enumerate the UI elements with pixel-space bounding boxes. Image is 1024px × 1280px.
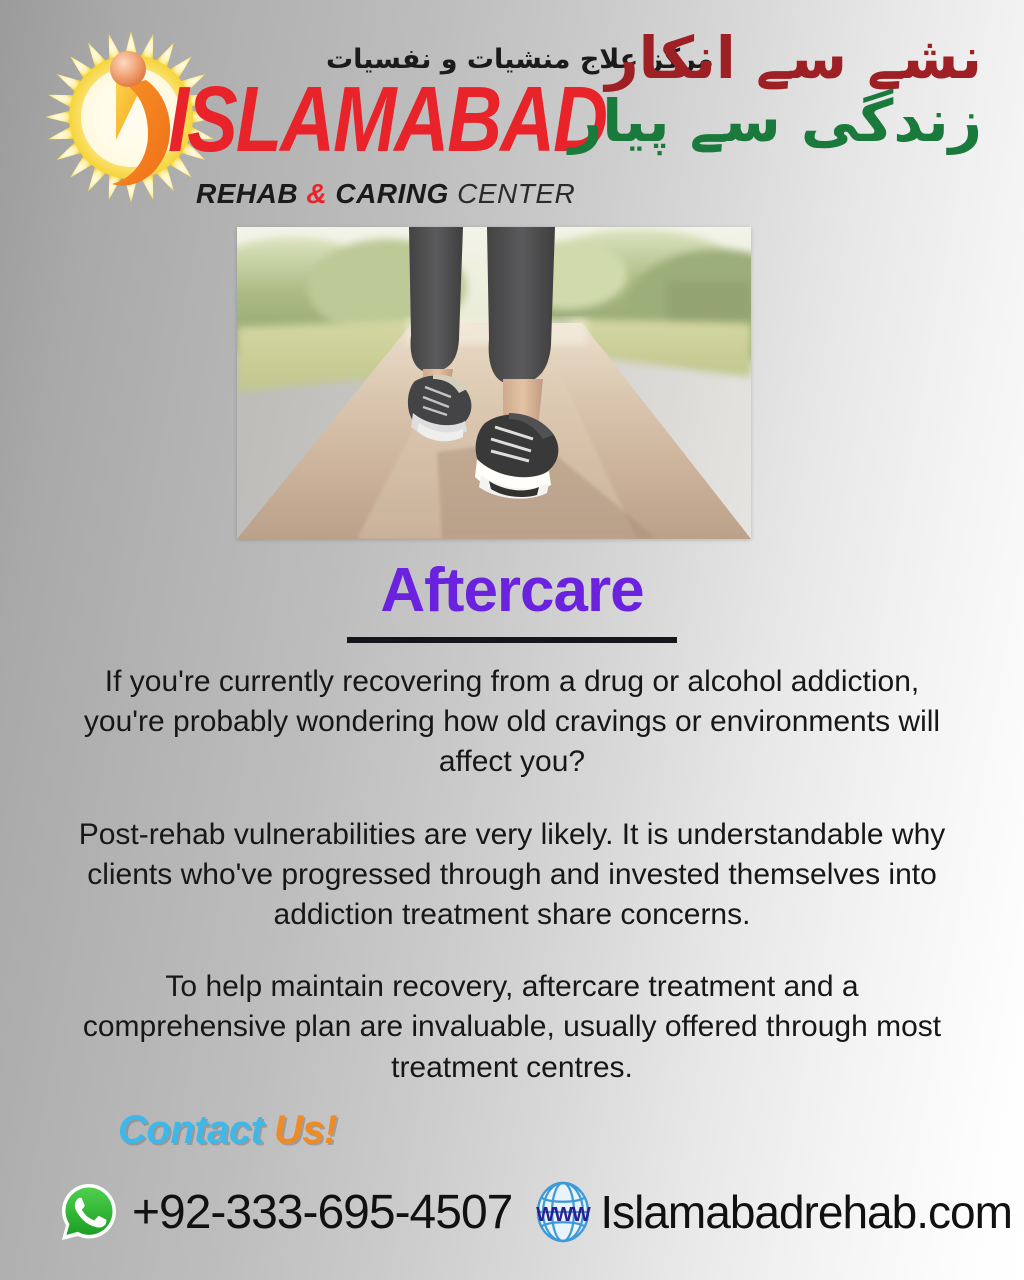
page-title: Aftercare [0,558,1024,623]
logo-sub-ampersand: & [306,178,327,209]
logo-subtitle: REHAB & CARING CENTER [196,180,575,208]
body-copy: If you're currently recovering from a dr… [62,662,962,1088]
title-underline-rule [347,637,677,643]
urdu-slogan-line-1: نشے سے انکار [569,28,982,89]
section-title-block: Aftercare [0,558,1024,643]
contact-us-heading-part1: Contact [118,1108,274,1152]
svg-text:WWW: WWW [537,1204,592,1226]
logo-brand-name: ISLAMABAD [168,74,606,167]
body-paragraph-1: If you're currently recovering from a dr… [62,662,962,783]
whatsapp-icon[interactable] [58,1181,120,1243]
phone-number[interactable]: +92-333-695-4507 [132,1185,512,1240]
hero-photo-walking-legs [237,227,751,539]
urdu-slogan: نشے سے انکار زندگی سے پیار [569,28,982,152]
contact-details-row: +92-333-695-4507 WWW [58,1176,1018,1248]
contact-us-heading: Contact Us! [118,1108,337,1153]
www-globe-icon[interactable]: WWW [534,1181,592,1243]
poster-root: مرکز علاج منشیات و نفسیات ISLAMABAD REHA… [0,0,1024,1280]
body-paragraph-2: Post-rehab vulnerabilities are very like… [62,815,962,936]
body-paragraph-3: To help maintain recovery, aftercare tre… [62,967,962,1088]
urdu-slogan-line-2: زندگی سے پیار [569,91,982,152]
contact-us-heading-part2: Us! [274,1108,337,1152]
brand-logo: مرکز علاج منشیات و نفسیات ISLAMABAD REHA… [36,22,616,217]
poster-header: مرکز علاج منشیات و نفسیات ISLAMABAD REHA… [0,0,1024,222]
logo-sub-caring: CARING [335,178,448,209]
website-url[interactable]: Islamabadrehab.com [600,1185,1012,1239]
logo-sub-center: CENTER [457,178,575,209]
logo-sub-rehab: REHAB [196,178,298,209]
